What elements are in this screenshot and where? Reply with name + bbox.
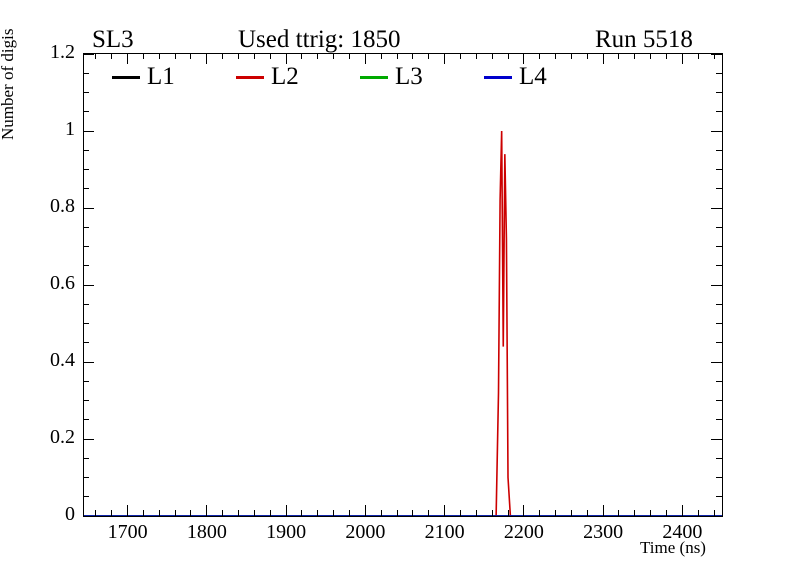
y-tick-minor-right xyxy=(716,73,722,74)
x-tick-minor xyxy=(634,510,635,516)
x-tick-minor-top xyxy=(492,53,493,59)
series-l2 xyxy=(492,131,513,516)
x-tick-label: 1700 xyxy=(93,521,163,544)
x-tick-minor xyxy=(666,510,667,516)
y-tick-major xyxy=(83,362,94,363)
y-tick-minor-right xyxy=(716,323,722,324)
x-tick-minor-top xyxy=(159,53,160,59)
y-tick-minor-right xyxy=(716,419,722,420)
x-tick-minor-top xyxy=(270,53,271,59)
x-tick-major xyxy=(127,505,128,516)
x-tick-minor-top xyxy=(238,53,239,59)
x-tick-minor xyxy=(428,510,429,516)
x-tick-minor-top xyxy=(301,53,302,59)
y-tick-major-right xyxy=(711,208,722,209)
x-tick-minor-top xyxy=(349,53,350,59)
x-tick-minor-top xyxy=(333,53,334,59)
x-tick-major xyxy=(365,505,366,516)
x-tick-major-top xyxy=(682,53,683,64)
y-tick-major-right xyxy=(711,362,722,363)
y-tick-major-right xyxy=(711,285,722,286)
x-tick-minor-top xyxy=(698,53,699,59)
y-tick-minor xyxy=(83,419,89,420)
x-tick-minor-top xyxy=(397,53,398,59)
x-tick-major-top xyxy=(127,53,128,64)
x-tick-minor xyxy=(333,510,334,516)
x-tick-minor xyxy=(381,510,382,516)
y-tick-minor-right xyxy=(716,342,722,343)
x-tick-minor-top xyxy=(634,53,635,59)
y-tick-major xyxy=(83,208,94,209)
y-tick-minor xyxy=(83,227,89,228)
x-tick-label: 2300 xyxy=(568,521,638,544)
x-tick-minor xyxy=(175,510,176,516)
y-tick-minor-right xyxy=(716,381,722,382)
y-tick-minor xyxy=(83,150,89,151)
y-tick-minor-right xyxy=(716,496,722,497)
x-tick-major xyxy=(603,505,604,516)
x-tick-major-top xyxy=(206,53,207,64)
y-tick-minor xyxy=(83,92,89,93)
y-tick-major-right xyxy=(711,131,722,132)
x-tick-minor xyxy=(190,510,191,516)
y-tick-label: 1 xyxy=(29,118,75,141)
x-tick-minor xyxy=(476,510,477,516)
y-tick-minor xyxy=(83,477,89,478)
x-tick-minor-top xyxy=(222,53,223,59)
y-tick-minor-right xyxy=(716,400,722,401)
y-tick-minor-right xyxy=(716,246,722,247)
x-tick-minor xyxy=(270,510,271,516)
y-tick-minor xyxy=(83,246,89,247)
y-tick-minor xyxy=(83,342,89,343)
y-tick-major xyxy=(83,285,94,286)
x-tick-minor-top xyxy=(254,53,255,59)
x-tick-minor-top xyxy=(460,53,461,59)
x-tick-minor-top xyxy=(714,53,715,59)
y-tick-major xyxy=(83,516,94,517)
x-tick-minor xyxy=(412,510,413,516)
x-tick-minor-top xyxy=(587,53,588,59)
x-tick-minor xyxy=(650,510,651,516)
x-tick-minor-top xyxy=(650,53,651,59)
y-tick-major-right xyxy=(711,439,722,440)
y-tick-major xyxy=(83,131,94,132)
chart-canvas: SL3 Used ttrig: 1850 Run 5518 L1 L2 L3 L… xyxy=(0,0,796,572)
x-tick-major xyxy=(444,505,445,516)
x-tick-minor xyxy=(539,510,540,516)
y-tick-minor xyxy=(83,458,89,459)
x-tick-major-top xyxy=(603,53,604,64)
y-tick-minor xyxy=(83,265,89,266)
y-tick-label: 0.8 xyxy=(29,195,75,218)
y-tick-minor-right xyxy=(716,111,722,112)
x-tick-minor-top xyxy=(555,53,556,59)
x-tick-major-top xyxy=(523,53,524,64)
x-tick-minor xyxy=(143,510,144,516)
x-tick-minor-top xyxy=(476,53,477,59)
x-tick-minor xyxy=(618,510,619,516)
y-tick-label: 0.6 xyxy=(29,272,75,295)
x-tick-minor xyxy=(587,510,588,516)
y-tick-minor-right xyxy=(716,477,722,478)
x-tick-minor-top xyxy=(618,53,619,59)
x-tick-minor xyxy=(492,510,493,516)
x-tick-label: 2000 xyxy=(330,521,400,544)
y-tick-minor xyxy=(83,111,89,112)
x-tick-minor-top xyxy=(190,53,191,59)
y-tick-minor xyxy=(83,304,89,305)
x-tick-major xyxy=(206,505,207,516)
x-tick-minor xyxy=(159,510,160,516)
x-tick-minor xyxy=(508,510,509,516)
x-tick-major-top xyxy=(365,53,366,64)
x-tick-minor xyxy=(254,510,255,516)
x-tick-minor-top xyxy=(539,53,540,59)
x-tick-minor xyxy=(571,510,572,516)
x-tick-minor xyxy=(397,510,398,516)
y-tick-label: 1.2 xyxy=(29,41,75,64)
y-tick-minor-right xyxy=(716,92,722,93)
y-tick-major xyxy=(83,54,94,55)
y-tick-minor xyxy=(83,323,89,324)
y-tick-minor xyxy=(83,496,89,497)
x-tick-minor xyxy=(95,510,96,516)
y-tick-minor-right xyxy=(716,265,722,266)
y-tick-major xyxy=(83,439,94,440)
x-tick-label: 2400 xyxy=(647,521,717,544)
x-tick-label: 1800 xyxy=(172,521,242,544)
y-tick-minor xyxy=(83,73,89,74)
y-axis-title: Number of digis xyxy=(0,0,18,140)
x-tick-minor xyxy=(698,510,699,516)
x-tick-major xyxy=(682,505,683,516)
plot-frame xyxy=(83,53,723,517)
x-tick-minor-top xyxy=(571,53,572,59)
x-tick-major-top xyxy=(286,53,287,64)
y-tick-minor-right xyxy=(716,227,722,228)
x-tick-minor xyxy=(714,510,715,516)
y-tick-minor-right xyxy=(716,458,722,459)
title-right: Run 5518 xyxy=(595,26,693,54)
x-tick-minor xyxy=(460,510,461,516)
y-tick-label: 0.4 xyxy=(29,349,75,372)
y-tick-label: 0 xyxy=(29,503,75,526)
y-tick-minor xyxy=(83,169,89,170)
y-tick-label: 0.2 xyxy=(29,426,75,449)
x-tick-minor-top xyxy=(143,53,144,59)
x-tick-minor xyxy=(222,510,223,516)
title-left: SL3 xyxy=(92,26,134,54)
y-tick-minor-right xyxy=(716,169,722,170)
x-tick-major-top xyxy=(444,53,445,64)
x-tick-minor-top xyxy=(111,53,112,59)
y-tick-minor-right xyxy=(716,304,722,305)
x-tick-minor xyxy=(349,510,350,516)
x-tick-minor-top xyxy=(412,53,413,59)
y-tick-minor-right xyxy=(716,188,722,189)
y-tick-minor xyxy=(83,400,89,401)
x-tick-minor xyxy=(301,510,302,516)
x-tick-minor-top xyxy=(175,53,176,59)
x-tick-major xyxy=(523,505,524,516)
x-tick-minor xyxy=(111,510,112,516)
x-tick-minor-top xyxy=(666,53,667,59)
x-tick-major xyxy=(286,505,287,516)
x-tick-minor-top xyxy=(317,53,318,59)
x-tick-minor-top xyxy=(381,53,382,59)
x-tick-label: 2100 xyxy=(410,521,480,544)
x-tick-minor-top xyxy=(508,53,509,59)
plot-area xyxy=(84,54,722,516)
x-tick-minor-top xyxy=(428,53,429,59)
x-tick-minor xyxy=(555,510,556,516)
x-tick-minor xyxy=(238,510,239,516)
y-axis-title-text: Number of digis xyxy=(0,0,18,140)
x-tick-label: 2200 xyxy=(489,521,559,544)
title-center: Used ttrig: 1850 xyxy=(238,26,401,54)
x-tick-minor xyxy=(317,510,318,516)
y-tick-minor xyxy=(83,188,89,189)
x-tick-label: 1900 xyxy=(251,521,321,544)
x-tick-minor-top xyxy=(95,53,96,59)
y-tick-minor-right xyxy=(716,150,722,151)
y-tick-minor xyxy=(83,381,89,382)
